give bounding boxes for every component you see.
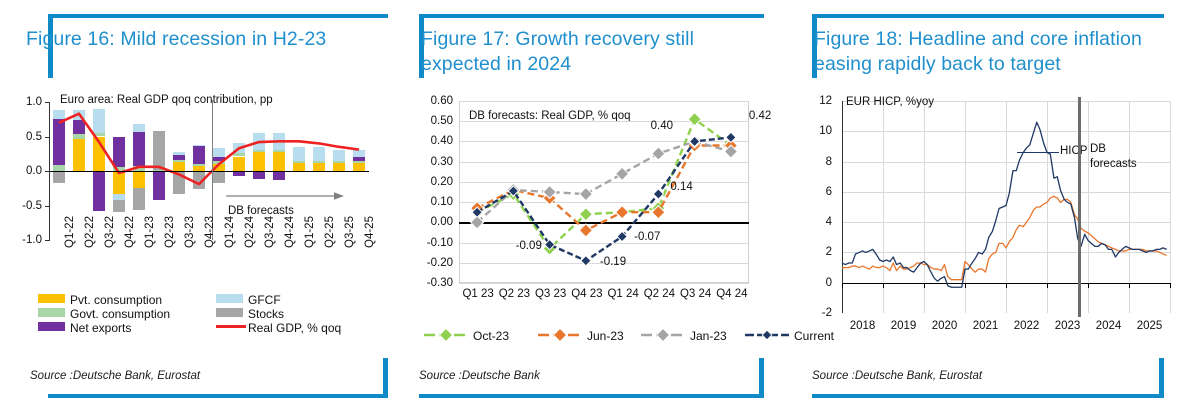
figures-sheet: Figure 16: Mild recession in H2-23 Euro …: [0, 0, 1187, 410]
source-note: Source :Deutsche Bank, Eurostat: [30, 370, 200, 382]
fig16-legend-label: Stocks: [248, 307, 284, 321]
fig17-legend-marker: [640, 328, 686, 342]
fig17-x-label: Q4 23: [569, 288, 605, 300]
fig16-x-label: Q3-23: [184, 216, 196, 248]
fig18-forecast-note-line1: DB: [1090, 143, 1106, 155]
fig16-plot-area: [0, 0, 397, 410]
fig17-value-annotation: 0.14: [670, 181, 692, 193]
fig16-legend-label: Real GDP, % qoq: [248, 321, 341, 335]
fig18-x-label: 2018: [843, 320, 883, 332]
fig17-x-label: Q3 24: [678, 288, 714, 300]
fig16-legend-swatch: [38, 294, 65, 303]
fig17-value-annotation: 0.40: [651, 120, 673, 132]
fig17-value-annotation: -0.19: [600, 256, 626, 268]
fig18-series-svg: [790, 0, 1187, 410]
fig16-legend-label: Pvt. consumption: [70, 293, 162, 307]
fig17-data-marker: [579, 188, 592, 201]
fig17-legend-marker: [537, 328, 583, 342]
fig17-data-marker: [726, 132, 736, 142]
fig16-legend-swatch: [38, 308, 65, 317]
fig18-x-label: 2021: [966, 320, 1006, 332]
fig18-forecast-divider: [1078, 97, 1081, 317]
fig17-x-label: Q1 24: [605, 288, 641, 300]
figure-17-panel: Figure 17: Growth recovery still expecte…: [397, 0, 790, 410]
fig17-data-marker: [616, 206, 629, 219]
fig17-legend-marker: [744, 328, 790, 342]
fig16-x-label: Q4-24: [284, 216, 296, 248]
fig17-data-marker: [653, 189, 663, 199]
fig17-x-label: Q2 24: [641, 288, 677, 300]
fig16-x-label: Q1-22: [64, 216, 76, 248]
fig18-forecast-note-line2: forecasts: [1090, 158, 1137, 170]
fig16-legend-label: Govt. consumption: [70, 307, 170, 321]
fig16-legend-swatch: [216, 294, 243, 303]
fig16-legend-swatch: [216, 308, 243, 317]
fig17-x-label: Q4 24: [714, 288, 750, 300]
fig16-x-label: Q3-25: [344, 216, 356, 248]
figure-18-panel: Figure 18: Headline and core inflation e…: [790, 0, 1187, 410]
fig17-data-marker: [616, 167, 629, 180]
fig16-legend-label: GFCF: [248, 293, 281, 307]
fig18-x-label: 2025: [1130, 320, 1170, 332]
fig17-data-marker: [579, 224, 592, 237]
fig16-legend-label: Net exports: [70, 321, 131, 335]
fig18-x-label: 2019: [884, 320, 924, 332]
fig18-hicp-legend-label: HICP: [1060, 145, 1087, 157]
fig16-real-gdp-line: [0, 0, 397, 410]
fig17-x-label: Q3 23: [533, 288, 569, 300]
fig17-data-marker: [581, 256, 591, 266]
fig16-x-label: Q2-24: [244, 216, 256, 248]
fig17-value-annotation: -0.07: [634, 231, 660, 243]
fig17-legend-label: Jun-23: [587, 329, 624, 343]
fig18-hicp-legend-line: [1017, 152, 1059, 153]
fig16-x-label: Q1-25: [304, 216, 316, 248]
fig17-value-annotation: 0.42: [749, 110, 771, 122]
source-note: Source :Deutsche Bank, Eurostat: [812, 370, 982, 382]
fig16-forecast-arrow-icon: [226, 190, 346, 202]
source-note: Source :Deutsche Bank: [419, 370, 540, 382]
fig16-x-label: Q4-25: [364, 216, 376, 248]
fig16-x-label: Q3-22: [104, 216, 116, 248]
fig16-x-label: Q4-22: [124, 216, 136, 248]
fig16-x-label: Q1-24: [224, 216, 236, 248]
fig17-series-layer: [397, 0, 790, 410]
fig17-legend-marker: [423, 328, 469, 342]
fig17-x-label: Q1 23: [460, 288, 496, 300]
fig16-legend-swatch: [38, 322, 65, 331]
fig18-x-label: 2024: [1089, 320, 1129, 332]
fig16-x-label: Q2-25: [324, 216, 336, 248]
fig17-legend-label: Jan-23: [690, 329, 727, 343]
fig17-data-marker: [652, 147, 665, 160]
fig16-legend-line-swatch: [216, 325, 246, 328]
fig18-x-label: 2020: [925, 320, 965, 332]
fig17-legend-label: Oct-23: [473, 329, 509, 343]
fig16-x-label: Q2-22: [84, 216, 96, 248]
fig18-chart: 121086420-2 EUR HICP, %yoy HICP DB forec…: [790, 0, 1187, 410]
fig18-x-label: 2023: [1048, 320, 1088, 332]
fig16-x-label: Q2-23: [164, 216, 176, 248]
fig17-series-svg: [397, 0, 790, 410]
fig18-x-label: 2022: [1007, 320, 1047, 332]
fig18-line-core: [842, 196, 1167, 279]
fig16-x-label: Q1-23: [144, 216, 156, 248]
fig16-x-label: Q3-24: [264, 216, 276, 248]
fig17-chart: DB forecasts: Real GDP, % qoq 0.600.500.…: [397, 0, 790, 410]
fig17-x-label: Q2 23: [496, 288, 532, 300]
fig18-line-hicp: [842, 122, 1167, 287]
fig17-value-annotation: -0.09: [516, 240, 542, 252]
figure-16-panel: Figure 16: Mild recession in H2-23 Euro …: [0, 0, 397, 410]
fig16-zero-line: [49, 171, 369, 173]
fig16-chart: Euro area: Real GDP qoq contribution, pp…: [0, 0, 397, 410]
fig16-x-label: Q4-23: [204, 216, 216, 248]
fig18-series-layer: [790, 0, 1187, 410]
